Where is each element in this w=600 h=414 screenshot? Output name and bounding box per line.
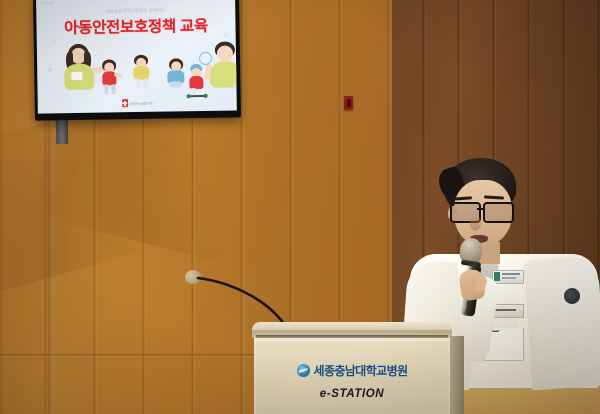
podium-side-panel — [450, 336, 464, 414]
slide-figure-child-yellow — [131, 55, 153, 87]
hospital-globe-logo-icon — [297, 364, 310, 377]
shoulder-patch-emblem — [564, 288, 580, 304]
glasses-icon — [450, 202, 516, 219]
lecture-hall-photo: 교육자료 세종충남대학교병원과 함께하는 아동안전보호정책 교육 ✳ ✳ ✳ ✳… — [0, 0, 600, 414]
slide-corner-tag: 교육자료 — [41, 1, 54, 5]
badge-text-line — [502, 277, 516, 279]
podium-brand-name: 세종충남대학교병원 — [314, 362, 408, 379]
id-badge — [492, 270, 524, 284]
save-children-logo-icon — [122, 99, 128, 107]
podium: 세종충남대학교병원 e-STATION — [252, 322, 452, 414]
slide-footer-logo: 세이브더칠드런 — [122, 99, 153, 107]
nose — [470, 216, 481, 231]
glasses-bridge — [477, 208, 484, 210]
glasses-lens-right — [483, 202, 514, 223]
badge-text-line — [502, 273, 520, 275]
slide-figure-adult-man — [205, 41, 237, 92]
emergency-light-panel-icon — [344, 96, 353, 110]
sparkle-icon: ✳ — [223, 32, 229, 40]
sparkle-icon: ✳ — [47, 66, 53, 74]
presentation-slide: 교육자료 세종충남대학교병원과 함께하는 아동안전보호정책 교육 ✳ ✳ ✳ ✳… — [36, 0, 237, 114]
slide-title: 아동안전보호정책 교육 — [36, 13, 235, 38]
sparkle-icon: ✳ — [51, 38, 57, 46]
badge-color-bar — [494, 272, 500, 281]
wall-mounted-tv: 교육자료 세종충남대학교병원과 함께하는 아동안전보호정책 교육 ✳ ✳ ✳ ✳… — [33, 0, 241, 121]
podium-station-label: e-STATION — [254, 388, 450, 400]
podium-front-panel: 세종충남대학교병원 e-STATION — [254, 338, 450, 414]
slide-figure-adult-woman — [59, 44, 100, 93]
coat-shoulder-right — [524, 256, 600, 391]
tv-wall-mount — [56, 118, 68, 144]
slide-figure-child-red — [99, 59, 122, 95]
slide-footer-logo-text: 세이브더칠드런 — [130, 100, 153, 105]
podium-brand: 세종충남대학교병원 — [254, 362, 450, 379]
